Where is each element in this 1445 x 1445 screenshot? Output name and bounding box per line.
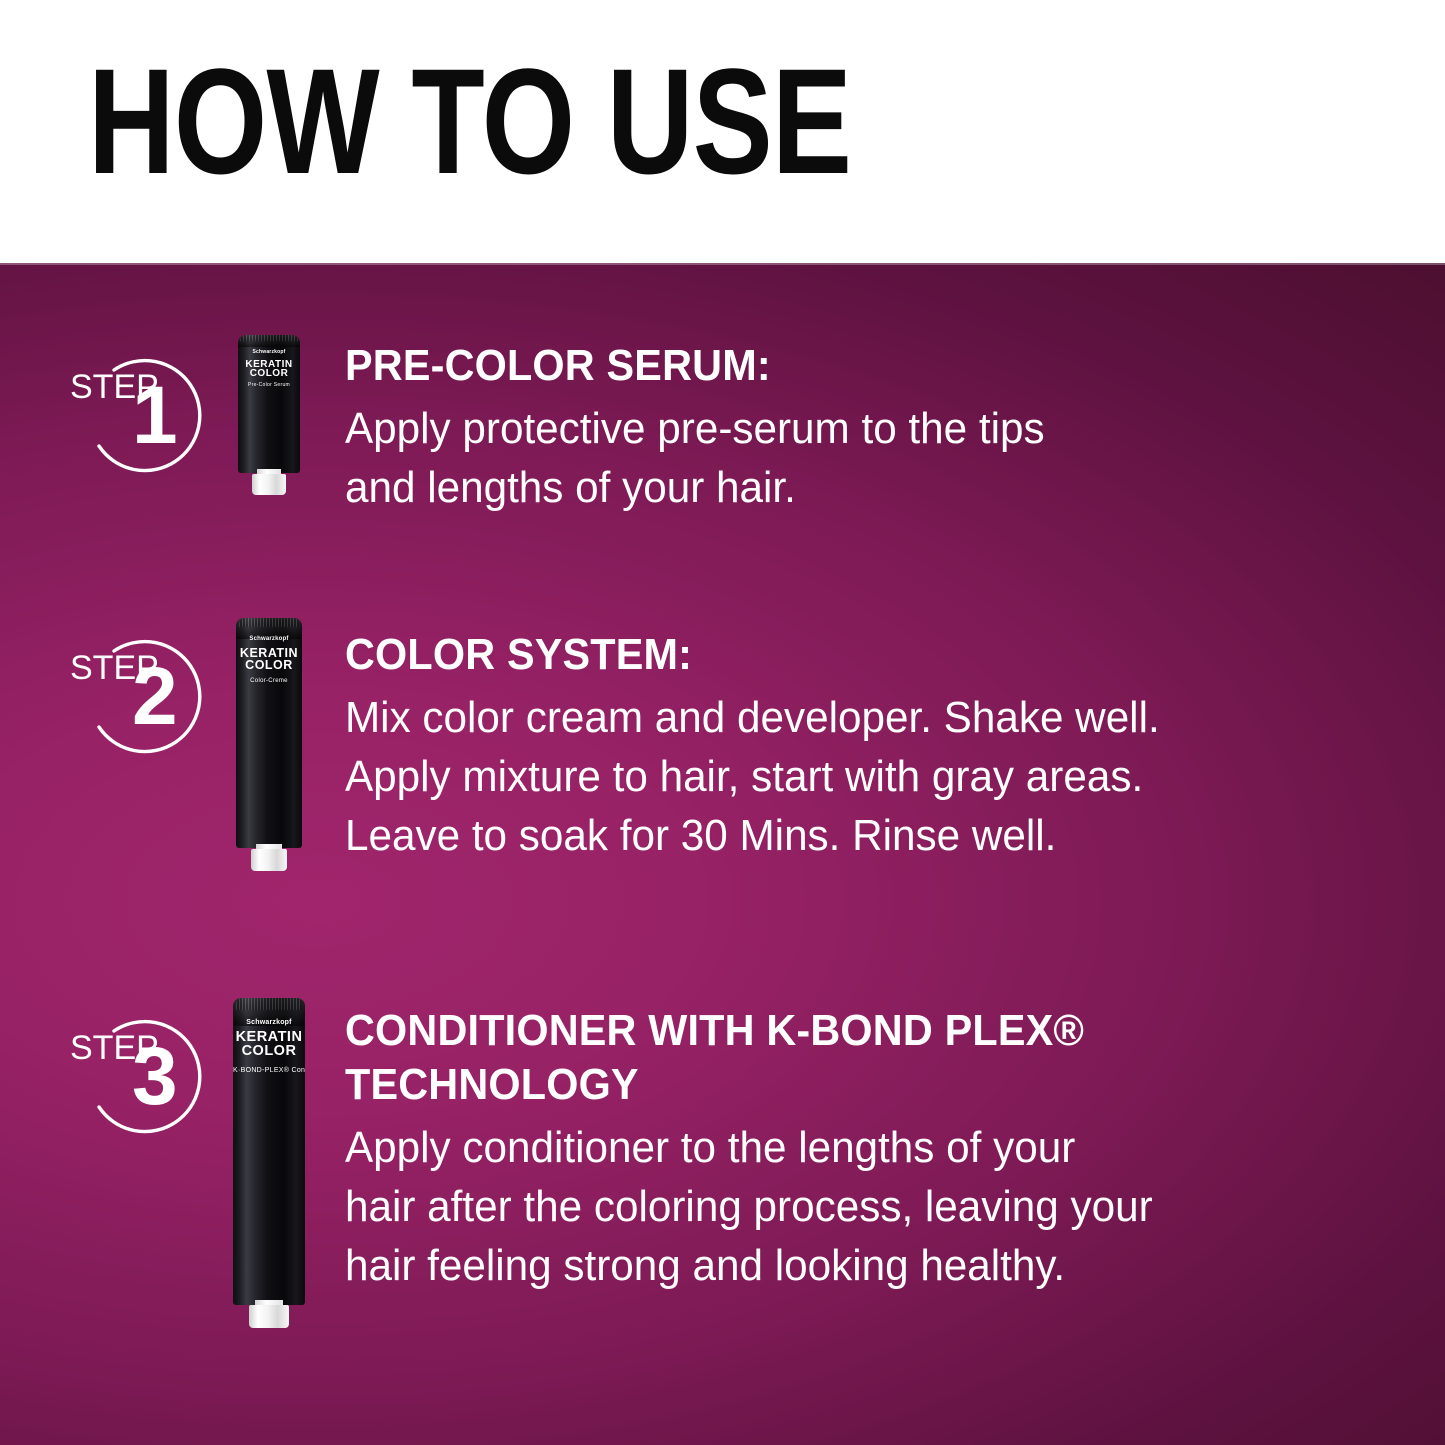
- tube-crimp: [240, 335, 297, 341]
- step-number-3: 3: [132, 1036, 178, 1118]
- tube-crimp: [236, 998, 302, 1010]
- tube-crimp: [239, 618, 300, 627]
- tube-cap-1: [252, 474, 287, 495]
- tube-product-line-3b: COLOR: [233, 1044, 305, 1059]
- tube-brand-name-3: Schwarzkopf: [233, 1019, 305, 1026]
- product-tube-3: Schwarzkopf KERATIN COLOR K·BOND-PLEX® C…: [233, 998, 305, 1328]
- tube-variant-3: K·BOND-PLEX® Conditioner: [233, 1067, 305, 1076]
- step-body-3: Apply conditioner to the lengths of your…: [345, 1118, 1363, 1295]
- tube-product-line-2b: COLOR: [236, 659, 302, 672]
- step-text-1: PRE-COLOR SERUM: Apply protective pre-se…: [345, 339, 1405, 517]
- header-band: HOW TO USE: [0, 0, 1445, 263]
- tube-brand-name-1: Schwarzkopf: [238, 349, 300, 355]
- step-number-2: 2: [132, 656, 178, 738]
- tube-cap-2: [251, 849, 288, 871]
- tube-variant-2: Color-Creme: [236, 678, 302, 686]
- tube-product-line-1b: COLOR: [238, 369, 300, 379]
- how-to-use-infographic: HOW TO USE STEP 1 Schwarzkopf KERATIN CO…: [0, 0, 1445, 1445]
- tube-variant-1: Pre-Color Serum: [238, 382, 300, 388]
- product-tube-2: Schwarzkopf KERATIN COLOR Color-Creme: [236, 618, 302, 871]
- step-number-1: 1: [132, 375, 178, 457]
- steps-panel: STEP 1 Schwarzkopf KERATIN COLOR Pre-Col…: [0, 263, 1445, 1445]
- page-title: HOW TO USE: [88, 46, 851, 196]
- step-heading-1: PRE-COLOR SERUM:: [345, 339, 1341, 393]
- product-tube-1: Schwarzkopf KERATIN COLOR Pre-Color Seru…: [238, 335, 300, 495]
- step-text-2: COLOR SYSTEM: Mix color cream and develo…: [345, 628, 1405, 865]
- step-badge-1: STEP 1: [70, 349, 205, 484]
- step-body-2: Mix color cream and developer. Shake wel…: [345, 688, 1363, 865]
- step-body-1: Apply protective pre-serum to the tips a…: [345, 399, 1363, 517]
- panel-top-divider: [0, 263, 1445, 265]
- step-heading-2: COLOR SYSTEM:: [345, 628, 1341, 682]
- tube-cap-3: [249, 1305, 289, 1328]
- step-badge-3: STEP 3: [70, 1010, 205, 1145]
- tube-brand-name-2: Schwarzkopf: [236, 636, 302, 642]
- step-badge-2: STEP 2: [70, 630, 205, 765]
- step-heading-3: CONDITIONER WITH K-BOND PLEX® TECHNOLOGY: [345, 1004, 1341, 1112]
- step-text-3: CONDITIONER WITH K-BOND PLEX® TECHNOLOGY…: [345, 1004, 1405, 1295]
